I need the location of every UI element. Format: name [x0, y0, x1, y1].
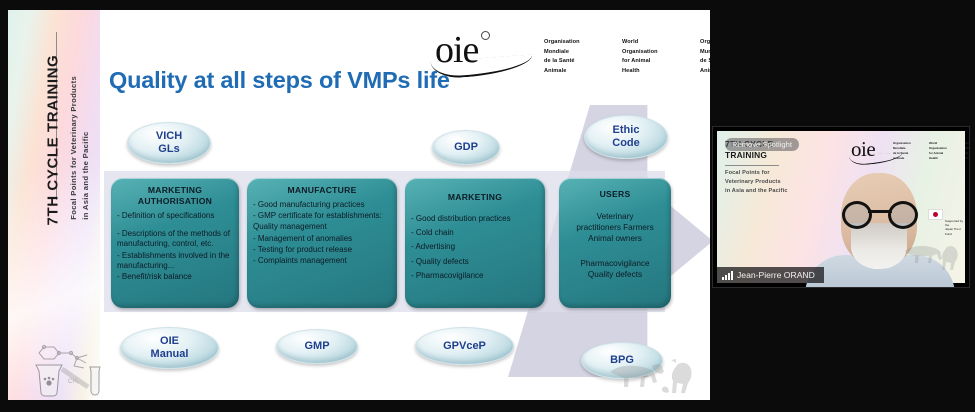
callout-gmp: GMP	[276, 329, 358, 364]
callout-label: OIE Manual	[151, 335, 189, 361]
sidebar-subtitle-line-1: Focal Points for Veterinary Products	[68, 40, 80, 220]
sidebar-vertical-subtitle: Focal Points for Veterinary Products in …	[68, 40, 92, 220]
list-item: - Testing for product release	[253, 245, 392, 255]
sponsor-text: Supported by the Japan Trust Fund	[945, 219, 967, 236]
video-participant-tile[interactable]: 7TH CYCLE TRAINING Focal Points for Vete…	[712, 126, 970, 288]
video-org-en: World Organisation for Animal Health	[929, 141, 951, 161]
list-item: - Cold chain	[411, 228, 540, 238]
japan-flag-icon	[928, 209, 943, 220]
video-overlay-subtitle: Focal Points for Veterinary Products in …	[725, 169, 788, 196]
list-item: - Advertising	[411, 242, 540, 252]
list-item: Quality management	[253, 222, 392, 232]
callout-label: GMP	[304, 340, 329, 353]
organisation-name-fr: Organisation Mondiale de la Santé Animal…	[544, 38, 592, 76]
video-org-fr: Organisation Mondiale de la Santé Animal…	[893, 141, 915, 161]
users-activities-text: Pharmacovigilance Quality defects	[559, 259, 671, 281]
process-box-title: MANUFACTURE	[251, 185, 393, 196]
participant-beard	[851, 223, 907, 269]
callout-oie-manual: OIE Manual	[120, 327, 219, 369]
video-subtitle-line-2: Veterinary Products	[725, 178, 788, 187]
participant-name: Jean-Pierre ORAND	[737, 270, 815, 280]
organisation-name-es: Organización Mundial de Sanidad Animal	[700, 38, 710, 76]
callout-gpvcep: GPVceP	[415, 327, 514, 365]
remove-spotlight-tooltip[interactable]: Remove Spotlight	[725, 138, 799, 151]
slide-headline: Quality at all steps of VMPs life	[109, 67, 450, 94]
organisation-names: Organisation Mondiale de la Santé Animal…	[544, 38, 710, 76]
farm-animals-icon	[606, 354, 706, 400]
screen: 7TH CYCLE TRAINING Focal Points for Vete…	[0, 0, 975, 412]
process-box-title: USERS	[563, 189, 667, 200]
oie-logo-dot	[481, 31, 490, 40]
list-item: - Definition of specifications	[117, 211, 234, 221]
presentation-slide: 7TH CYCLE TRAINING Focal Points for Vete…	[8, 10, 710, 400]
list-item: - Quality defects	[411, 257, 540, 267]
sidebar-subtitle-line-2: in Asia and the Pacific	[80, 40, 92, 220]
list-item: - Establishments involved in the manufac…	[117, 251, 234, 271]
audio-level-icon	[722, 271, 733, 280]
list-item: - Management of anomalies	[253, 234, 392, 244]
list-item-spacer	[117, 222, 234, 228]
list-item: - Good manufacturing practices	[253, 200, 392, 210]
list-item: - Pharmacovigilance	[411, 271, 540, 281]
list-item: - Complaints management	[253, 256, 392, 266]
video-subtitle-line-1: Focal Points for	[725, 169, 788, 178]
process-box-list: - Good distribution practices - Cold cha…	[405, 214, 545, 281]
process-box-marketing: MARKETING - Good distribution practices …	[405, 178, 545, 308]
video-overlay-divider	[725, 165, 779, 166]
process-box-title: MARKETING AUTHORISATION	[115, 185, 235, 207]
list-item: - Descriptions of the methods of manufac…	[117, 229, 234, 249]
callout-label: Ethic Code	[612, 124, 640, 150]
list-item: - Good distribution practices	[411, 214, 540, 224]
list-item: - Benefit/risk balance	[117, 272, 234, 282]
video-subtitle-line-3: in Asia and the Pacific	[725, 187, 788, 196]
video-cow-icon	[903, 239, 963, 273]
laboratory-molecule-icon: CH₃	[22, 335, 110, 400]
callout-label: GDP	[454, 141, 478, 154]
video-org-es: Organización Mundial de Sanidad Animal	[965, 141, 970, 161]
process-box-title: MARKETING	[409, 192, 541, 203]
callout-label: VICH GLs	[156, 130, 182, 156]
process-box-list: - Good manufacturing practices - GMP cer…	[247, 200, 397, 266]
process-box-marketing-authorisation: MARKETING AUTHORISATION - Definition of …	[111, 178, 239, 308]
process-box-manufacture: MANUFACTURE - Good manufacturing practic…	[247, 178, 397, 308]
svg-text:CH₃: CH₃	[68, 379, 80, 385]
video-title-line-2: TRAINING	[725, 150, 773, 161]
callout-label: GPVceP	[443, 340, 486, 353]
users-roles-text: Veterinary practitioners Farmers Animal …	[559, 212, 671, 244]
organisation-name-en: World Organisation for Animal Health	[622, 38, 670, 76]
callout-gdp: GDP	[432, 130, 500, 165]
callout-ethic-code: Ethic Code	[584, 115, 668, 159]
participant-glasses	[840, 201, 920, 223]
video-organisation-names: Organisation Mondiale de la Santé Animal…	[893, 141, 970, 161]
participant-name-badge: Jean-Pierre ORAND	[717, 267, 824, 283]
process-box-list: - Definition of specifications - Descrip…	[111, 211, 239, 282]
callout-vich-gls: VICH GLs	[127, 122, 211, 164]
sidebar-vertical-title: 7TH CYCLE TRAINING	[45, 10, 62, 226]
process-box-users: USERS Veterinary practitioners Farmers A…	[559, 178, 671, 308]
list-item: - GMP certificate for establishments:	[253, 211, 392, 221]
